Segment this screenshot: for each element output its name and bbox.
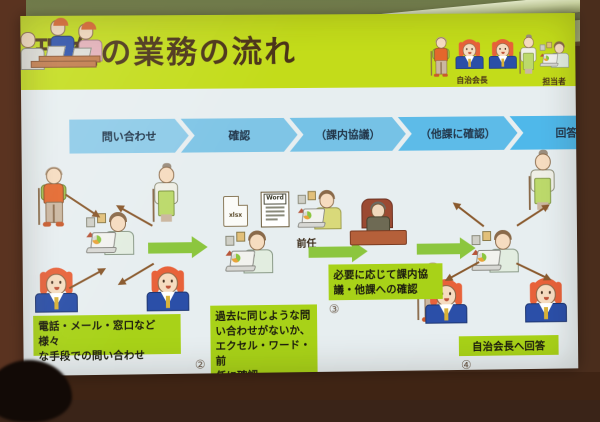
projected-slide: 現在の業務の流れ 自治会長 担当者 問い合わせ 確認 （課内協議） （他課に確認… — [20, 13, 578, 376]
green-arrow-3 — [417, 237, 478, 259]
supervisor-at-desk-icon — [349, 198, 406, 246]
caption-box-2: 過去に同じような問 い合わせがないか、 エクセル・ワード・前 任に確認 — [210, 304, 317, 373]
caption-number-3: ③ — [329, 302, 340, 316]
flow-step-reply[interactable]: 回答 — [510, 115, 579, 149]
caption-box-1: 電話・メール・窓口など様々 な手段での問い合わせ — [33, 314, 181, 356]
flow-step-internal-discussion[interactable]: （課内協議） — [290, 117, 407, 152]
header-label-association-head: 自治会長 — [456, 75, 487, 86]
citizen-businesswoman-icon-2 — [144, 266, 191, 311]
header-elder-icon — [430, 37, 451, 78]
header-businesswoman-icon-2 — [487, 39, 518, 69]
wall-bottom — [0, 372, 600, 400]
header-staff-at-laptop-icon — [536, 41, 571, 72]
green-arrow-1 — [148, 236, 210, 259]
caption-box-4: 自治会長へ回答 — [459, 335, 559, 356]
process-flow-band: 問い合わせ 確認 （課内協議） （他課に確認） 回答 — [69, 116, 578, 154]
citizen-elderly-woman-icon — [151, 167, 181, 224]
caption-number-4: ④ — [461, 358, 472, 372]
caption-box-3: 必要に応じて課内協 議・他課への確認 — [328, 263, 442, 300]
header-label-staff: 担当者 — [542, 76, 566, 87]
caption-number-2: ② — [195, 358, 206, 372]
staff-receiving-inquiries-icon — [80, 211, 138, 262]
xlsx-file-icon: xlsx — [223, 196, 248, 227]
reply-arrow-1 — [449, 201, 483, 227]
wall-right — [580, 0, 600, 400]
predecessor-at-laptop-icon — [292, 189, 345, 235]
flow-step-confirm[interactable]: 確認 — [181, 118, 298, 153]
citizen-elder-icon — [38, 168, 70, 229]
citizen-businesswoman-icon-1 — [33, 267, 80, 312]
staff-searching-records-icon — [219, 229, 277, 279]
word-file-icon: Word — [261, 191, 290, 227]
reply-businesswoman-icon-2 — [523, 278, 569, 323]
header-businesswoman-icon-1 — [454, 39, 485, 69]
flow-step-inquiry[interactable]: 問い合わせ — [69, 119, 189, 154]
flow-step-other-dept-check[interactable]: （他課に確認） — [398, 116, 518, 151]
